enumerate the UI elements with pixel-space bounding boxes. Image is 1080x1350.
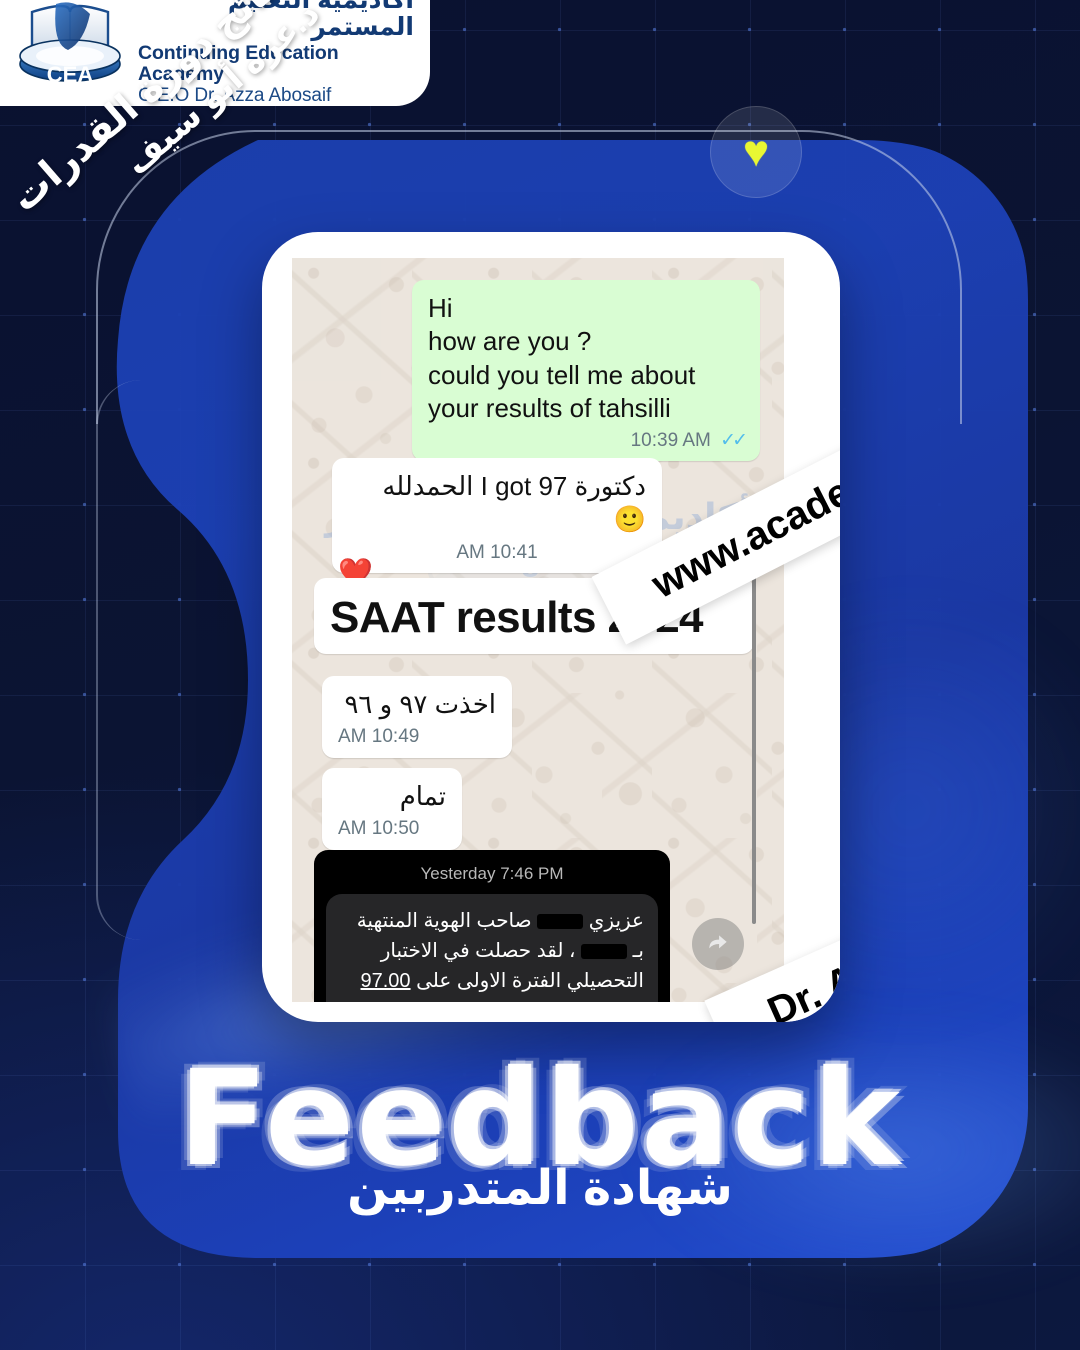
message-text: تمام: [338, 780, 446, 813]
message-text: اخذت ٩٧ و ٩٦: [338, 688, 496, 721]
read-ticks-icon: ✓✓: [720, 430, 744, 451]
sms-score-1: 97.00: [361, 970, 411, 992]
message-time: 10:41 AM: [348, 541, 646, 565]
redaction-block-1: [537, 914, 583, 929]
chat-scrollbar[interactable]: [752, 554, 756, 924]
svg-text:CEA: CEA: [47, 62, 94, 87]
message-time: 10:39 AM: [631, 430, 711, 451]
message-meta: 10:39 AM ✓✓: [428, 429, 744, 453]
sms-body: عزيزي صاحب الهوية المنتهية بـ ، لقد حصلت…: [326, 894, 658, 1002]
message-time: 10:50 AM: [338, 817, 446, 841]
redaction-block-2: [581, 944, 627, 959]
chat-bubble-outgoing: Hi how are you ? could you tell me about…: [412, 280, 760, 461]
message-time: 10:49 AM: [338, 725, 496, 749]
heart-badge: ♥: [710, 106, 802, 198]
sms-timestamp: Yesterday 7:46 PM: [326, 864, 658, 884]
chat-bubble-incoming-3: اخذت ٩٧ و ٩٦ 10:49 AM: [322, 676, 512, 758]
chat-bubble-incoming-4: تمام 10:50 AM: [322, 768, 462, 850]
whatsapp-chat: CEA أكاديمية التعليم المستمر Continuing …: [292, 258, 784, 1002]
cea-book-e-logo-icon: CEA: [16, 0, 124, 96]
sms-line1: عزيزي: [589, 910, 644, 932]
message-text: Hi how are you ? could you tell me about…: [428, 292, 744, 425]
sms-line4: درجة، والفترة الثانية على: [439, 1000, 644, 1002]
message-text: دكتورة I got 97 الحمدلله 🙂: [348, 470, 646, 537]
chat-bubble-incoming-1: دكتورة I got 97 الحمدلله 🙂 10:41 AM: [332, 458, 662, 573]
forwarded-sms-card: Yesterday 7:46 PM عزيزي صاحب الهوية المن…: [314, 850, 670, 1002]
sms-score-2: 96.00: [383, 1000, 433, 1002]
heart-icon: ♥: [743, 130, 769, 174]
screenshot-card: CEA أكاديمية التعليم المستمر Continuing …: [262, 232, 840, 1022]
forward-arrow-icon[interactable]: [692, 918, 744, 970]
footer-subtitle: شهادة المتدربين: [0, 1160, 1080, 1216]
